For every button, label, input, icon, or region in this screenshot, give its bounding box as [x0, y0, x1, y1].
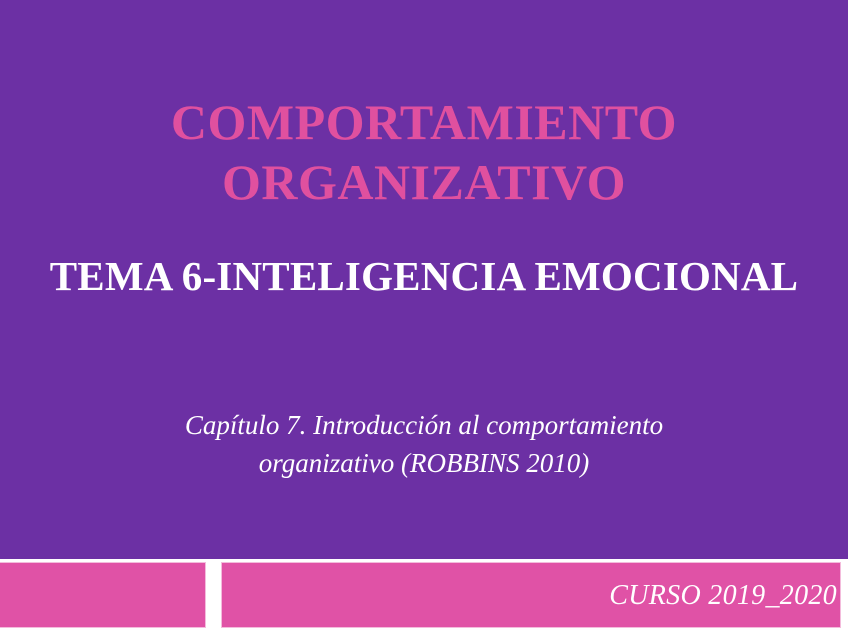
title-line-1: COMPORTAMIENTO — [0, 92, 848, 152]
presentation-slide: COMPORTAMIENTO ORGANIZATIVO TEMA 6-INTEL… — [0, 0, 848, 636]
topic-heading: TEMA 6-INTELIGENCIA EMOCIONAL — [0, 252, 848, 300]
page-title: COMPORTAMIENTO ORGANIZATIVO — [0, 92, 848, 212]
chapter-reference-text: Capítulo 7. Introducción al comportamien… — [124, 406, 724, 482]
title-line-2: ORGANIZATIVO — [0, 152, 848, 212]
course-label: CURSO 2019_2020 — [609, 580, 837, 612]
footer-bar-right: CURSO 2019_2020 — [221, 562, 841, 628]
footer-bar-left — [0, 562, 206, 628]
